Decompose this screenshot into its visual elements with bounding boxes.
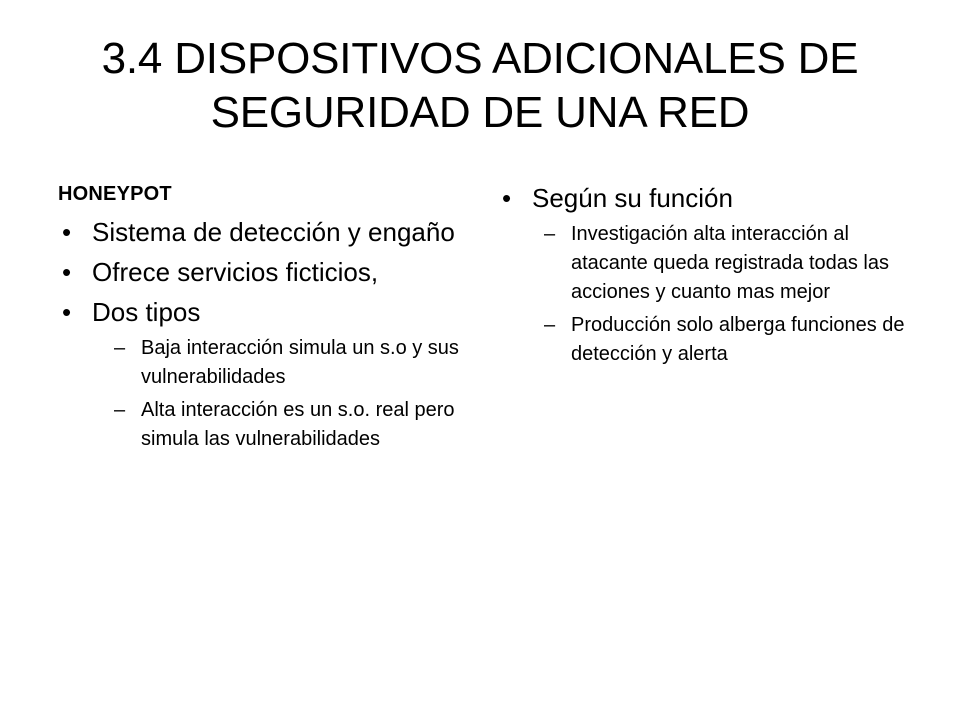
bullet-dot-icon: •: [62, 214, 82, 250]
page-title-line-1: 3.4 DISPOSITIVOS ADICIONALES DE: [48, 32, 912, 86]
sub-list-item: – Baja interacción simula un s.o y sus v…: [114, 334, 472, 392]
slide-body: HONEYPOT • Sistema de detección y engaño…: [0, 180, 960, 700]
bullet-text: Según su función: [532, 180, 912, 216]
bullet-dot-icon: •: [502, 180, 522, 216]
page-title: 3.4 DISPOSITIVOS ADICIONALES DE SEGURIDA…: [48, 32, 912, 140]
bullet-dash-icon: –: [114, 396, 134, 425]
bullet-list-right: • Según su función – Investigación alta …: [492, 180, 912, 369]
sub-bullet-list: – Investigación alta interacción al atac…: [544, 220, 912, 369]
list-item: • Dos tipos – Baja interacción simula un…: [52, 294, 472, 454]
content-column-left: HONEYPOT • Sistema de detección y engaño…: [52, 180, 472, 458]
bullet-dash-icon: –: [544, 311, 564, 340]
bullet-dot-icon: •: [62, 254, 82, 290]
sub-list-item: – Alta interacción es un s.o. real pero …: [114, 396, 472, 454]
sub-list-item: – Producción solo alberga funciones de d…: [544, 311, 912, 369]
bullet-dot-icon: •: [62, 294, 82, 330]
bullet-list-left: • Sistema de detección y engaño • Ofrece…: [52, 214, 472, 454]
sub-bullet-list: – Baja interacción simula un s.o y sus v…: [114, 334, 472, 454]
list-item: • Ofrece servicios ficticios,: [52, 254, 472, 290]
bullet-text: Sistema de detección y engaño: [92, 214, 472, 250]
slide: 3.4 DISPOSITIVOS ADICIONALES DE SEGURIDA…: [0, 0, 960, 720]
page-title-line-2: SEGURIDAD DE UNA RED: [48, 86, 912, 140]
section-heading-honeypot: HONEYPOT: [58, 180, 472, 208]
sub-bullet-text: Investigación alta interacción al atacan…: [571, 220, 912, 307]
list-item: • Sistema de detección y engaño: [52, 214, 472, 250]
list-item: • Según su función – Investigación alta …: [492, 180, 912, 369]
bullet-dash-icon: –: [114, 334, 134, 363]
sub-bullet-text: Alta interacción es un s.o. real pero si…: [141, 396, 472, 454]
bullet-text: Ofrece servicios ficticios,: [92, 254, 472, 290]
bullet-text: Dos tipos: [92, 294, 472, 330]
sub-bullet-text: Producción solo alberga funciones de det…: [571, 311, 912, 369]
content-column-right: • Según su función – Investigación alta …: [492, 180, 912, 373]
sub-list-item: – Investigación alta interacción al atac…: [544, 220, 912, 307]
sub-bullet-text: Baja interacción simula un s.o y sus vul…: [141, 334, 472, 392]
bullet-dash-icon: –: [544, 220, 564, 249]
